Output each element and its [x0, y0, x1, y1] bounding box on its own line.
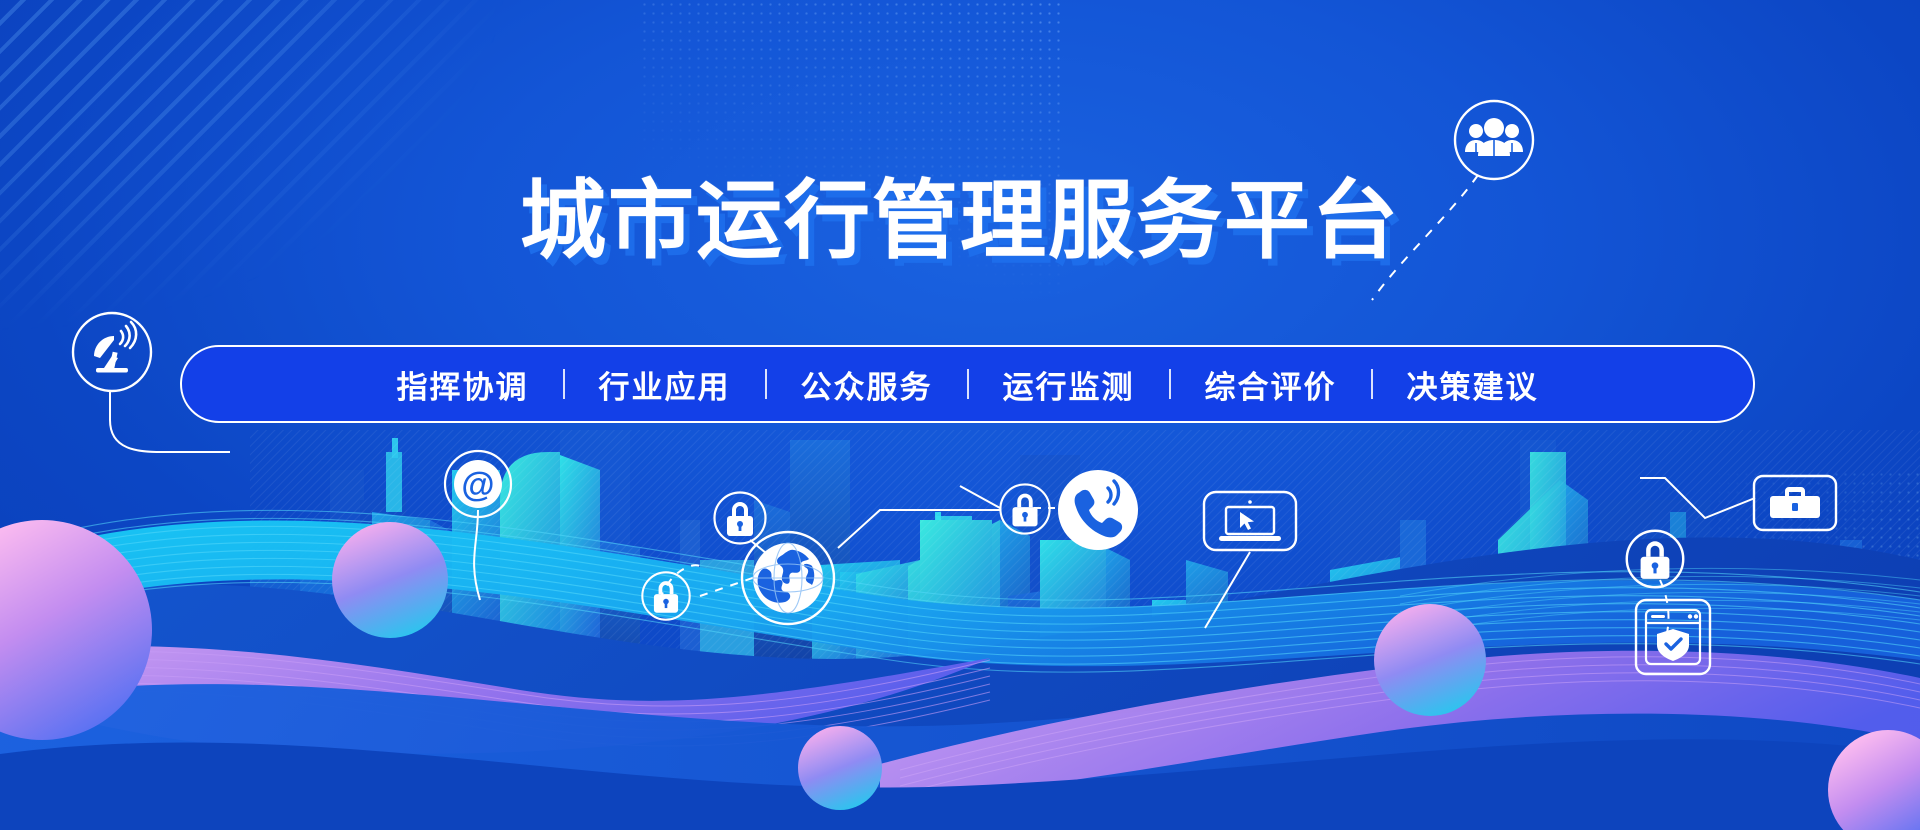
connector-laptop-line-a	[960, 486, 1000, 508]
skyline-back	[330, 430, 1710, 705]
sphere-bottom-right	[1828, 730, 1920, 830]
connector-globe-right	[838, 510, 1000, 548]
nav-item-5[interactable]: 决策建议	[1373, 362, 1573, 407]
wave-front-blue	[0, 739, 1920, 830]
banner-root: @	[0, 0, 1920, 830]
nav-item-1[interactable]: 行业应用	[565, 362, 765, 407]
connector-laptop	[1205, 552, 1250, 628]
satellite-dish-icon[interactable]	[70, 310, 154, 394]
dot-grid-decor-right	[1580, 470, 1920, 710]
wave-mid-blue	[0, 666, 1920, 830]
nav-item-4[interactable]: 综合评价	[1171, 362, 1371, 407]
lock-icon[interactable]	[1624, 528, 1686, 590]
lock-icon[interactable]	[640, 570, 692, 622]
wave-line-field-purple	[0, 651, 990, 746]
nav-item-2[interactable]: 公众服务	[767, 362, 967, 407]
briefcase-icon[interactable]	[1752, 474, 1838, 532]
lock-icon[interactable]	[998, 482, 1052, 536]
connector-briefcase	[1640, 478, 1755, 518]
nav-item-0[interactable]: 指挥协调	[363, 362, 563, 407]
wave-purple-right	[880, 651, 1920, 800]
sphere-bottom-small	[798, 726, 882, 810]
people-group-icon[interactable]	[1452, 98, 1536, 182]
sphere-left	[0, 520, 152, 740]
wave-line-field-purple-right	[900, 657, 1920, 794]
wave-purple-left	[0, 646, 990, 754]
browser-shield-icon[interactable]	[1634, 598, 1712, 676]
at-sign-icon[interactable]: @	[442, 448, 514, 520]
phone-signal-icon[interactable]	[1056, 468, 1140, 552]
globe-icon[interactable]	[738, 528, 838, 628]
svg-text:@: @	[461, 466, 494, 504]
page-title: 城市运行管理服务平台	[0, 178, 1920, 264]
nav-item-3[interactable]: 运行监测	[969, 362, 1169, 407]
sphere-right-small	[1374, 604, 1486, 716]
sphere-left-small	[332, 522, 448, 638]
connector-at	[474, 510, 480, 600]
main-nav: 指挥协调 行业应用 公众服务 运行监测 综合评价 决策建议	[180, 345, 1755, 423]
laptop-cursor-icon[interactable]	[1202, 490, 1298, 560]
